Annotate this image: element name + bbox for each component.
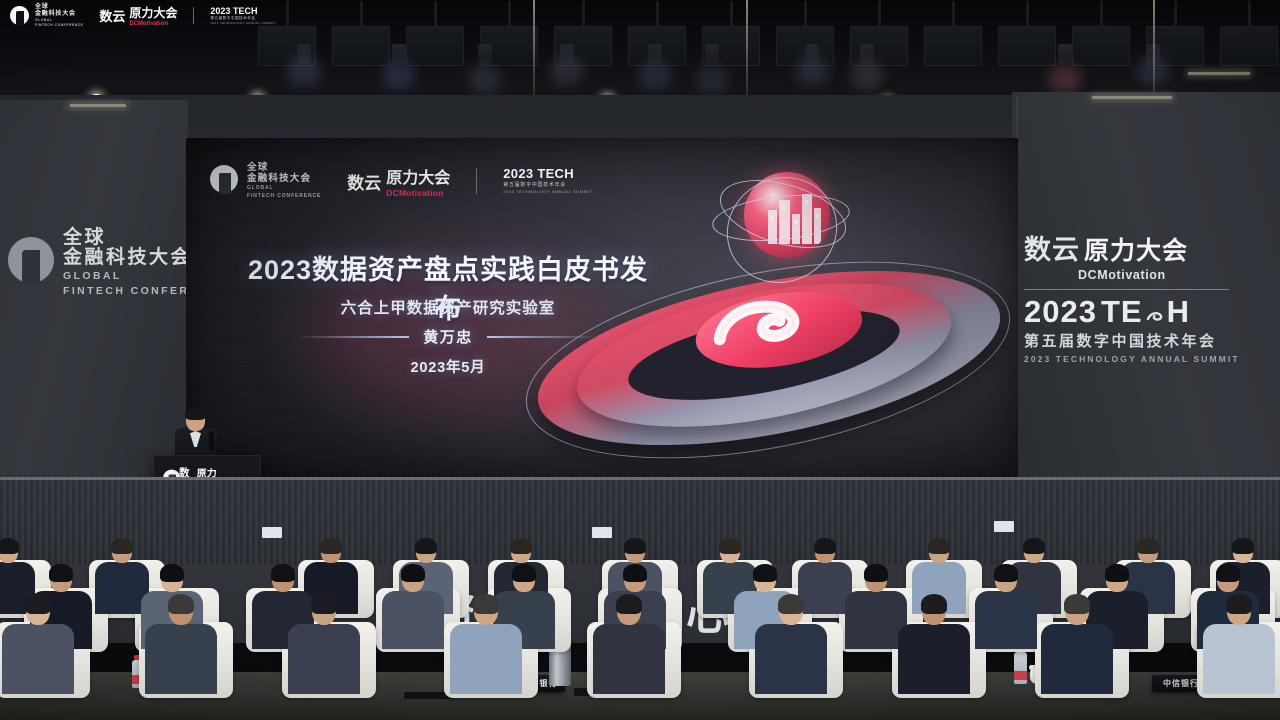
audience-person	[382, 566, 444, 650]
water-bottle	[1014, 652, 1027, 684]
person-hair	[512, 564, 536, 582]
truss-box	[850, 26, 908, 66]
person-hair	[623, 564, 647, 582]
overlay-tech-year: 2023	[210, 6, 230, 16]
overlay-dcm-yuanli: 原力大会	[129, 4, 177, 21]
dcm-shu-label: 数云	[1024, 228, 1080, 267]
overlay-gfc-cn2: 金融科技大会	[35, 11, 83, 18]
lamp-glow	[850, 60, 884, 90]
audience-person	[755, 596, 827, 692]
audience-person	[593, 596, 665, 692]
person-hair	[1216, 564, 1240, 582]
person-hair	[160, 564, 184, 582]
person-hair	[994, 564, 1018, 582]
ceiling-strip-light	[1188, 72, 1250, 75]
microphone-icon	[209, 431, 214, 451]
audience-area	[0, 520, 1280, 720]
person-hair	[778, 594, 804, 614]
person-hair	[1137, 538, 1158, 554]
person-hair	[473, 594, 499, 614]
tech-cn-sub: 第五届数字中国技术年会	[1024, 330, 1264, 351]
gfc-logo-icon	[10, 5, 30, 27]
gfc-logo-icon	[8, 237, 54, 289]
overlay-dcm-logo: 数云 原力大会 DCMotivation	[99, 4, 177, 27]
audience-person	[288, 596, 360, 692]
broadcast-logo-overlay: 全球 金融科技大会 GLOBAL FINTECH CONFERENCE 数云 原…	[10, 4, 276, 27]
rig-light	[1058, 44, 1072, 64]
swirl-icon	[1144, 301, 1166, 323]
overlay-tech-en: 2023 TECHNOLOGY ANNUAL SUMMIT	[210, 21, 275, 25]
person-hair	[415, 538, 436, 554]
wall-brand-dcmotivation: 数云 原力大会 DCMotivation 2023 TE H 第五届数字中国技术…	[1024, 228, 1264, 364]
person-hair	[921, 594, 947, 614]
person-hair	[753, 564, 777, 582]
led-stage-screen: 全球 金融科技大会 GLOBAL FINTECH CONFERENCE 数云 原…	[186, 138, 1018, 480]
overlay-gfc-en2: FINTECH CONFERENCE	[35, 23, 83, 28]
person-torso	[145, 624, 217, 694]
dcm-yuanli-label: 原力大会	[1084, 231, 1188, 267]
overlay-dcm-shu: 数云	[99, 6, 125, 25]
truss-box	[924, 26, 982, 66]
overlay-tech-logo: 2023 TECH 第五届数字中国技术年会 2023 TECHNOLOGY AN…	[210, 6, 275, 25]
lamp-glow	[795, 56, 829, 86]
person-torso	[755, 624, 827, 694]
overlay-tech-word: TECH	[233, 6, 258, 16]
audience-person	[898, 596, 970, 692]
person-hair	[320, 538, 341, 554]
person-hair	[624, 538, 645, 554]
person-torso	[975, 591, 1037, 649]
truss-box	[406, 26, 464, 66]
lamp-glow	[695, 64, 729, 94]
person-torso	[288, 624, 360, 694]
person-hair	[616, 594, 642, 614]
tech-h-label: H	[1167, 296, 1190, 328]
person-hair	[928, 538, 949, 554]
person-torso	[382, 591, 444, 649]
tech-year-label: 2023	[1024, 296, 1097, 328]
person-hair	[401, 564, 425, 582]
truss-box	[998, 26, 1056, 66]
truss-box	[1220, 26, 1278, 66]
tech-te-label: TE	[1101, 296, 1143, 328]
audience-person	[1203, 596, 1275, 692]
conference-stage-scene: 全球 金融科技大会 GLOBAL FINTECH CONFERENCE 数云 原…	[0, 0, 1280, 720]
rig-light	[705, 44, 719, 64]
lamp-glow	[382, 60, 416, 90]
lamp-glow	[1048, 64, 1082, 94]
divider	[1024, 289, 1229, 290]
audience-person	[450, 596, 522, 692]
rig-light	[478, 44, 492, 64]
dcm-en-label: DCMotivation	[1078, 268, 1264, 282]
lamp-glow	[468, 64, 502, 94]
truss-box	[1072, 26, 1130, 66]
person-hair	[510, 538, 531, 554]
person-hair	[1105, 564, 1129, 582]
truss-box	[332, 26, 390, 66]
person-hair	[25, 594, 51, 614]
ceiling-strip-light	[70, 104, 126, 107]
lamp-glow	[638, 60, 672, 90]
audience-person	[975, 566, 1037, 650]
person-hair	[1023, 538, 1044, 554]
audience-person	[1041, 596, 1113, 692]
person-torso	[1203, 624, 1275, 694]
person-hair	[311, 594, 337, 614]
person-hair	[271, 564, 295, 582]
person-hair	[1064, 594, 1090, 614]
led-vignette	[186, 138, 1018, 480]
lamp-glow	[287, 56, 321, 86]
audience-person	[2, 596, 74, 692]
overlay-gfc-cn1: 全球	[35, 4, 83, 11]
audience-person	[145, 596, 217, 692]
person-hair	[168, 594, 194, 614]
person-hair	[0, 538, 19, 554]
divider	[193, 7, 194, 24]
overlay-gfc-logo: 全球 金融科技大会 GLOBAL FINTECH CONFERENCE	[10, 4, 83, 27]
person-hair	[1232, 538, 1253, 554]
person-hair	[719, 538, 740, 554]
person-hair	[111, 538, 132, 554]
person-torso	[450, 624, 522, 694]
lamp-glow	[550, 56, 584, 86]
person-hair	[814, 538, 835, 554]
overlay-dcm-en: DCMotivation	[129, 21, 177, 27]
stage-edge	[0, 477, 1280, 480]
person-hair	[1226, 594, 1252, 614]
person-hair	[864, 564, 888, 582]
person-torso	[593, 624, 665, 694]
person-torso	[898, 624, 970, 694]
person-hair	[49, 564, 73, 582]
ceiling-strip-light	[1092, 96, 1172, 99]
person-torso	[1041, 624, 1113, 694]
person-torso	[2, 624, 74, 694]
tech-en-sub: 2023 TECHNOLOGY ANNUAL SUMMIT	[1024, 354, 1264, 364]
